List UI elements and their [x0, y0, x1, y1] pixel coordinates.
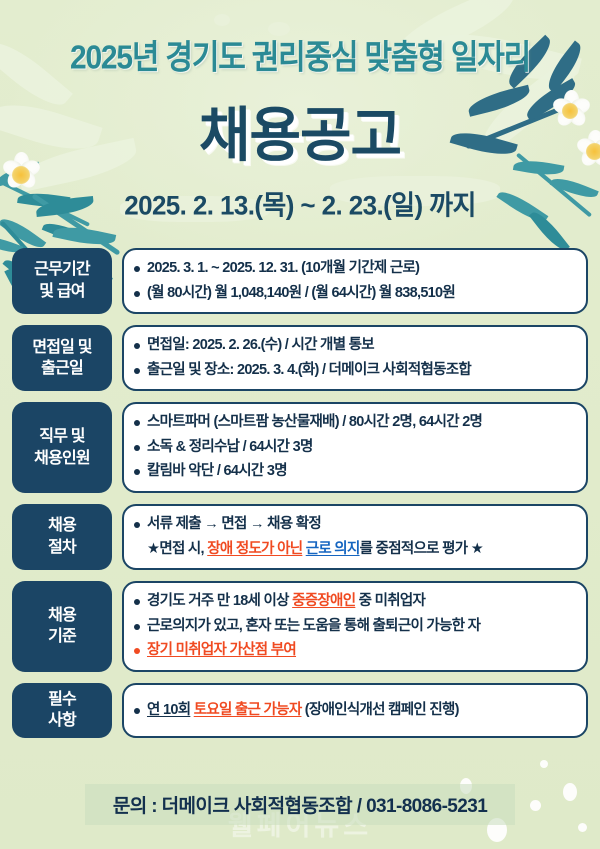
chip-line: 및 급여	[39, 281, 84, 303]
bullet-icon	[134, 291, 140, 297]
list-item: 서류 제출 → 면접 → 채용 확정	[134, 515, 574, 535]
info-row-work-period: 근무기간 및 급여 2025. 3. 1. ~ 2025. 12. 31. (1…	[12, 248, 588, 314]
decorative-dot	[540, 760, 548, 768]
list-item: 소독 & 정리수납 / 64시간 3명	[134, 438, 574, 458]
info-row-criteria: 채용 기준 경기도 거주 만 18세 이상 중증장애인 중 미취업자 근로의지가…	[12, 581, 588, 672]
footer-band: 문의 : 더메이크 사회적협동조합 / 031-8086-5231	[85, 784, 515, 825]
bullet-icon	[134, 624, 140, 630]
title-top-line: 2025년 경기도 권리중심 맞춤형 일자리	[0, 0, 600, 78]
application-period: 2025. 2. 13.(목) ~ 2. 23.(일) 까지	[0, 184, 600, 222]
note-suffix: 를 중점적으로 평가	[360, 541, 471, 557]
row-label-criteria: 채용 기준	[12, 581, 112, 672]
chip-line: 근무기간	[34, 259, 90, 281]
highlight-red: 중증장애인	[292, 593, 355, 609]
text-prefix: 경기도 거주 만 18세 이상	[147, 593, 292, 609]
bullet-icon	[134, 420, 140, 426]
chip-line: 사항	[48, 710, 76, 732]
bullet-icon	[134, 708, 140, 714]
list-item: 칼림바 악단 / 64시간 3명	[134, 462, 574, 482]
list-item-text: 서류 제출 → 면접 → 채용 확정	[147, 515, 321, 535]
list-item: 경기도 거주 만 18세 이상 중증장애인 중 미취업자	[134, 592, 574, 612]
bullet-icon	[134, 599, 140, 605]
info-row-requirements: 필수 사항 연 10회 토요일 출근 가능자 (장애인식개선 캠페인 진행)	[12, 683, 588, 738]
row-label-work-period: 근무기간 및 급여	[12, 248, 112, 314]
chip-line: 채용인원	[34, 448, 90, 470]
info-row-jobs-headcount: 직무 및 채용인원 스마트파머 (스마트팜 농산물재배) / 80시간 2명, …	[12, 402, 588, 493]
note-highlight-blue: 근로 의지	[306, 541, 360, 557]
star-icon: ★	[147, 541, 159, 557]
note-prefix: 면접 시,	[159, 541, 207, 557]
bullet-icon	[134, 266, 140, 272]
info-row-process: 채용 절차 서류 제출 → 면접 → 채용 확정 ★면접 시, 장애 정도가 아…	[12, 504, 588, 570]
chip-line: 절차	[48, 537, 76, 559]
list-item-text: 소독 & 정리수납 / 64시간 3명	[147, 438, 313, 458]
chip-line: 채용	[48, 605, 76, 627]
row-label-process: 채용 절차	[12, 504, 112, 570]
list-item-text: 칼림바 악단 / 64시간 3명	[147, 462, 287, 482]
list-item: 근로의지가 있고, 혼자 또는 도움을 통해 출퇴근이 가능한 자	[134, 617, 574, 637]
list-item-text: 면접일: 2025. 2. 26.(수) / 시간 개별 통보	[147, 336, 374, 356]
chip-line: 기준	[48, 626, 76, 648]
bullet-icon	[134, 368, 140, 374]
row-content-work-period: 2025. 3. 1. ~ 2025. 12. 31. (10개월 기간제 근로…	[122, 248, 588, 314]
list-item: 스마트파머 (스마트팜 농산물재배) / 80시간 2명, 64시간 2명	[134, 413, 574, 433]
list-item-text: 연 10회 토요일 출근 가능자 (장애인식개선 캠페인 진행)	[147, 701, 459, 721]
list-item: 연 10회 토요일 출근 가능자 (장애인식개선 캠페인 진행)	[134, 701, 574, 721]
poster-canvas: 2025년 경기도 권리중심 맞춤형 일자리 채용공고 2025. 2. 13.…	[0, 0, 600, 849]
list-item-text: 출근일 및 장소: 2025. 3. 4.(화) / 더메이크 사회적협동조합	[147, 361, 471, 381]
bullet-icon	[134, 469, 140, 475]
poster-footer: 문의 : 더메이크 사회적협동조합 / 031-8086-5231	[0, 784, 600, 825]
bullet-icon	[134, 522, 140, 528]
process-note: ★면접 시, 장애 정도가 아닌 근로 의지를 중점적으로 평가 ★	[134, 540, 574, 560]
note-highlight-red: 장애 정도가 아닌	[207, 541, 302, 557]
chip-line: 필수	[48, 689, 76, 711]
poster-header: 2025년 경기도 권리중심 맞춤형 일자리 채용공고 2025. 2. 13.…	[0, 0, 600, 222]
star-icon: ★	[471, 541, 483, 557]
row-label-jobs-headcount: 직무 및 채용인원	[12, 402, 112, 493]
list-item-text: (월 80시간) 월 1,048,140원 / (월 64시간) 월 838,5…	[147, 284, 455, 304]
row-label-interview-start: 면접일 및 출근일	[12, 325, 112, 391]
title-main: 채용공고	[0, 88, 600, 174]
row-content-interview-start: 면접일: 2025. 2. 26.(수) / 시간 개별 통보 출근일 및 장소…	[122, 325, 588, 391]
list-item-text: 근로의지가 있고, 혼자 또는 도움을 통해 출퇴근이 가능한 자	[147, 617, 480, 637]
row-content-criteria: 경기도 거주 만 18세 이상 중증장애인 중 미취업자 근로의지가 있고, 혼…	[122, 581, 588, 672]
highlight-navy: 연 10회	[147, 702, 190, 718]
chip-line: 면접일 및	[32, 337, 91, 359]
bullet-icon	[134, 343, 140, 349]
list-item-text-highlight: 장기 미취업자 가산점 부여	[147, 641, 296, 661]
chip-line: 출근일	[41, 358, 83, 380]
bullet-icon	[134, 445, 140, 451]
row-content-jobs-headcount: 스마트파머 (스마트팜 농산물재배) / 80시간 2명, 64시간 2명 소독…	[122, 402, 588, 493]
chip-line: 채용	[48, 515, 76, 537]
list-item: 장기 미취업자 가산점 부여	[134, 641, 574, 661]
info-row-interview-start: 면접일 및 출근일 면접일: 2025. 2. 26.(수) / 시간 개별 통…	[12, 325, 588, 391]
text-suffix: (장애인식개선 캠페인 진행)	[301, 702, 458, 718]
info-rows: 근무기간 및 급여 2025. 3. 1. ~ 2025. 12. 31. (1…	[12, 248, 588, 738]
highlight-red: 토요일 출근 가능자	[194, 702, 302, 718]
contact-info: 문의 : 더메이크 사회적협동조합 / 031-8086-5231	[113, 796, 487, 817]
list-item: 면접일: 2025. 2. 26.(수) / 시간 개별 통보	[134, 336, 574, 356]
chip-line: 직무 및	[39, 426, 84, 448]
row-label-requirements: 필수 사항	[12, 683, 112, 738]
list-item: 2025. 3. 1. ~ 2025. 12. 31. (10개월 기간제 근로…	[134, 259, 574, 279]
row-content-process: 서류 제출 → 면접 → 채용 확정 ★면접 시, 장애 정도가 아닌 근로 의…	[122, 504, 588, 570]
list-item-text: 스마트파머 (스마트팜 농산물재배) / 80시간 2명, 64시간 2명	[147, 413, 482, 433]
list-item: 출근일 및 장소: 2025. 3. 4.(화) / 더메이크 사회적협동조합	[134, 361, 574, 381]
bullet-icon	[134, 648, 140, 654]
list-item-text: 2025. 3. 1. ~ 2025. 12. 31. (10개월 기간제 근로…	[147, 259, 419, 279]
list-item: (월 80시간) 월 1,048,140원 / (월 64시간) 월 838,5…	[134, 284, 574, 304]
list-item-text: 경기도 거주 만 18세 이상 중증장애인 중 미취업자	[147, 592, 425, 612]
text-suffix: 중 미취업자	[355, 593, 425, 609]
row-content-requirements: 연 10회 토요일 출근 가능자 (장애인식개선 캠페인 진행)	[122, 683, 588, 738]
